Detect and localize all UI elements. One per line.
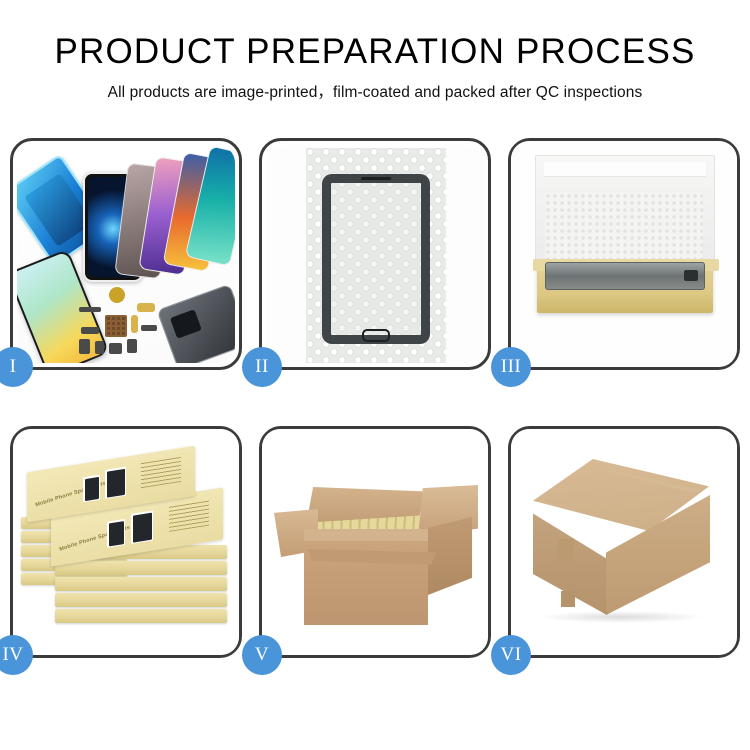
camera-module-icon [79,339,90,354]
step-badge-6: VI [491,635,531,675]
vibrator-part-icon [127,339,137,353]
carton-tape-tab [558,539,574,561]
foam-padding [545,193,703,267]
flex-cable-icon [137,303,155,312]
kraft-box-layer [55,609,227,623]
step-5-photo [262,429,488,655]
earpiece-slot-icon [361,177,391,180]
step-4-photo: Mobile Phone Spare Parts Mobile Phone Sp… [13,429,239,655]
box-print-thumb [131,510,153,543]
process-step-5: V [259,426,491,658]
button-part-icon [109,343,122,354]
home-button-icon [362,329,390,342]
process-step-3: III [508,138,740,370]
carton-shadow [537,611,705,623]
speaker-part-icon [109,287,125,303]
header: PRODUCT PREPARATION PROCESS All products… [0,0,750,102]
antenna-part-icon [79,307,101,312]
step-badge-4: IV [0,635,33,675]
step-2-photo [266,145,484,363]
process-step-grid: I II III [10,138,740,658]
step-3-photo [511,141,737,367]
kraft-box-layer [55,577,227,591]
step-badge-1: I [0,347,33,387]
process-step-4: Mobile Phone Spare Parts Mobile Phone Sp… [10,426,242,658]
chip-grid-icon [105,315,127,337]
kraft-box-layer [55,593,227,607]
page-title: PRODUCT PREPARATION PROCESS [0,34,750,71]
box-print-textlines [169,500,209,532]
step-badge-5: V [242,635,282,675]
bubble-wrap-sheet [306,148,446,363]
infographic-page: PRODUCT PREPARATION PROCESS All products… [0,0,750,750]
process-step-6: VI [508,426,740,658]
box-print-textlines [141,456,181,488]
box-print-thumb [105,467,126,499]
wrapped-phone-screen [322,174,430,344]
step-6-photo [511,429,737,655]
box-print-thumb [83,475,100,503]
connector-icon [81,327,99,334]
step-badge-3: III [491,347,531,387]
packed-screen [545,262,705,290]
step-badge-2: II [242,347,282,387]
kraft-box-tray [537,265,713,313]
step-1-photo [17,145,235,363]
ribbon-part-icon [141,325,157,331]
carton-tape-tab [561,591,575,607]
page-subtitle: All products are image-printed，film-coat… [0,80,750,102]
process-step-1: I [10,138,242,370]
box-print-thumb [107,519,125,548]
carton-side-face [428,517,472,595]
process-step-2: II [259,138,491,370]
flex-strip-icon [131,315,138,333]
battery-part-icon [95,341,104,354]
kraft-box-layer [55,561,227,575]
spare-parts-cluster [79,285,187,363]
